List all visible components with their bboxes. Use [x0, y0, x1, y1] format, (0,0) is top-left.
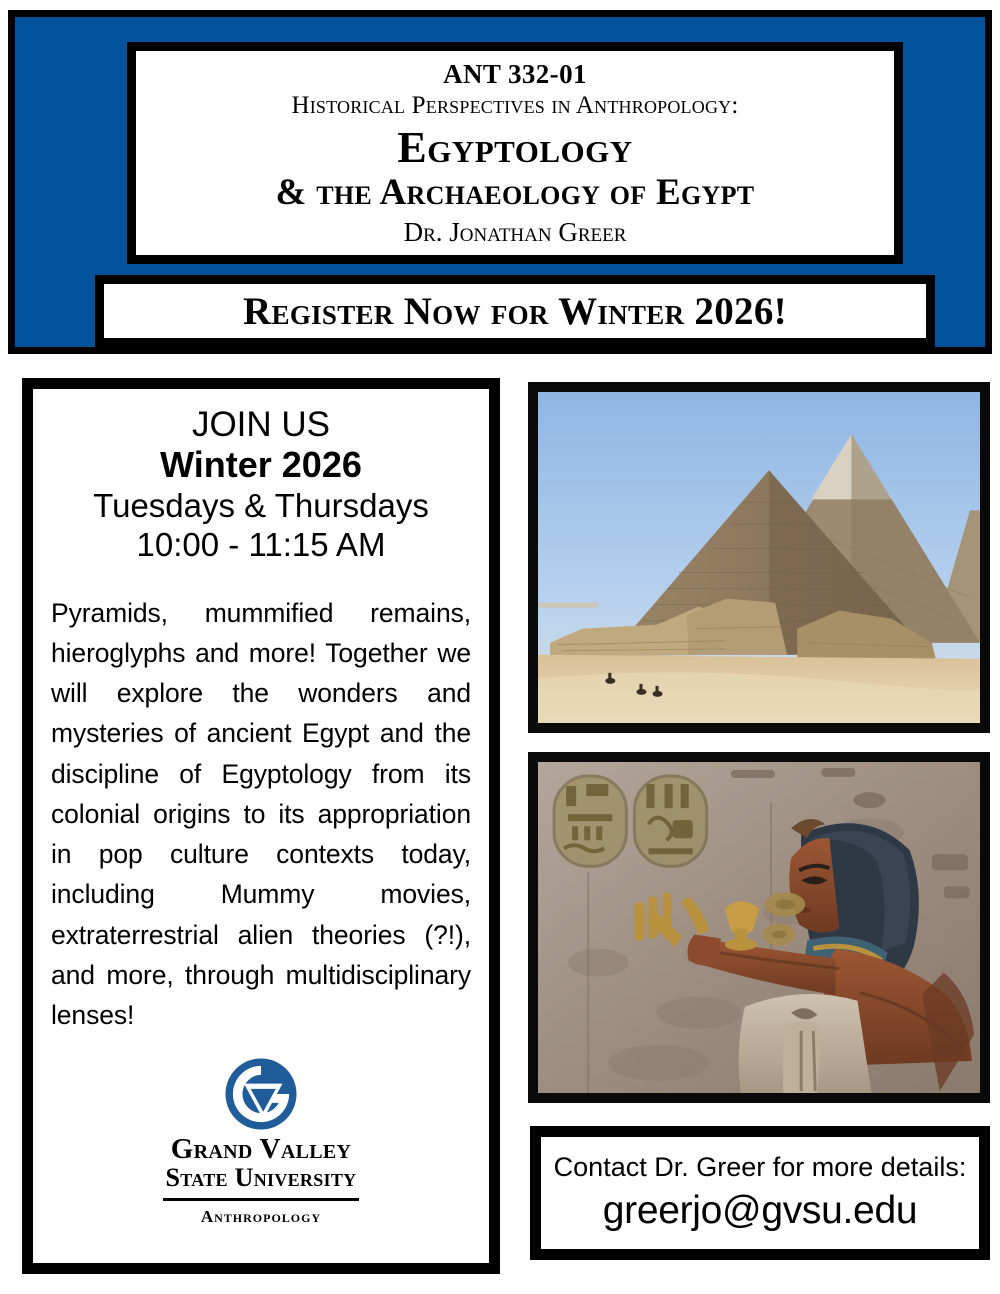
course-details-panel: JOIN US Winter 2026 Tuesdays & Thursdays… [22, 378, 500, 1274]
egyptian-relief-image [538, 762, 980, 1093]
egyptian-relief-photo [528, 752, 990, 1103]
header-banner: ANT 332-01 Historical Perspectives in An… [8, 10, 992, 354]
course-poster: ANT 332-01 Historical Perspectives in An… [0, 0, 1000, 1294]
meeting-days: Tuesdays & Thursdays [51, 487, 471, 526]
gvsu-name-line2: State University [166, 1165, 357, 1191]
instructor-name: Dr. Jonathan Greer [404, 218, 627, 246]
department-label: Anthropology [201, 1207, 321, 1227]
meeting-time: 10:00 - 11:15 AM [51, 526, 471, 565]
course-code: ANT 332-01 [443, 60, 587, 88]
course-title-line1: Egyptology [397, 125, 632, 171]
contact-box: Contact Dr. Greer for more details: gree… [530, 1126, 990, 1260]
register-callout-text: Register Now for Winter 2026! [243, 289, 787, 334]
register-callout-box: Register Now for Winter 2026! [95, 275, 935, 347]
giza-pyramids-photo [528, 382, 990, 733]
title-box: ANT 332-01 Historical Perspectives in An… [127, 42, 903, 264]
course-description: Pyramids, mummified remains, hieroglyphs… [51, 593, 471, 1036]
gvsu-logo: Grand Valley State University Anthropolo… [51, 1057, 471, 1227]
join-us-label: JOIN US [51, 405, 471, 444]
giza-pyramids-image [538, 392, 980, 723]
contact-email[interactable]: greerjo@gvsu.edu [603, 1188, 917, 1235]
contact-prompt: Contact Dr. Greer for more details: [554, 1151, 967, 1183]
course-series-title: Historical Perspectives in Anthropology: [291, 93, 738, 119]
meeting-info-block: JOIN US Winter 2026 Tuesdays & Thursdays… [51, 405, 471, 565]
term-label: Winter 2026 [51, 444, 471, 486]
course-title-line2: & the Archaeology of Egypt [276, 174, 755, 212]
gvsu-logo-mark-icon [224, 1057, 298, 1131]
gvsu-name-line1: Grand Valley [171, 1135, 352, 1164]
logo-divider [163, 1198, 359, 1201]
